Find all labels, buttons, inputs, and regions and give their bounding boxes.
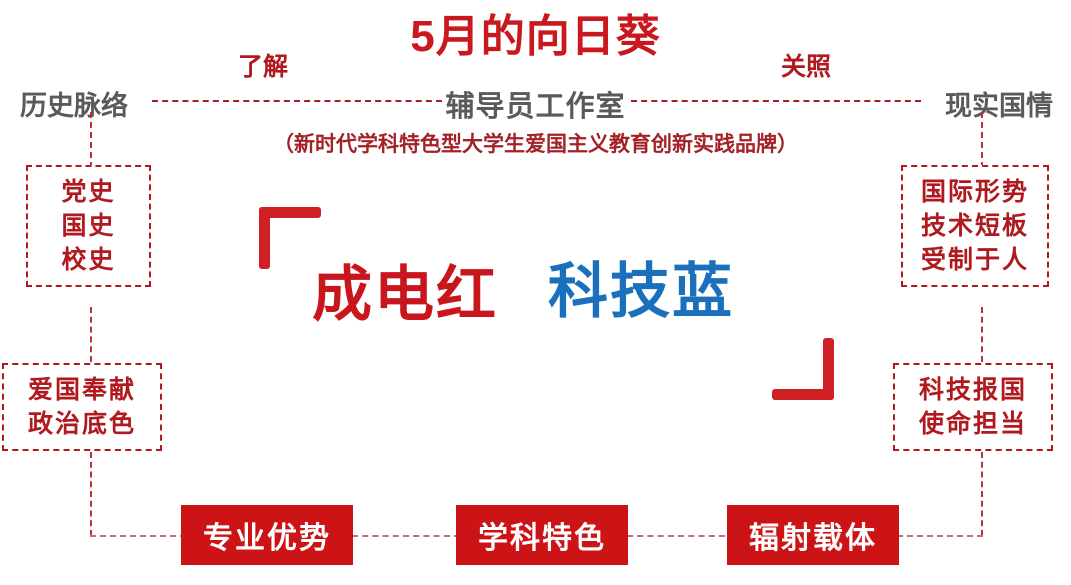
pill-major-advantage[interactable]: 专业优势 — [181, 505, 353, 565]
page-title: 5月的向日葵 — [0, 14, 1071, 60]
connector-right-vertical-2 — [981, 307, 983, 362]
pill-radiation-carrier[interactable]: 辐射载体 — [727, 505, 899, 565]
box-row: 技术短板 — [917, 209, 1033, 243]
box-row: 国史 — [42, 209, 135, 243]
center-slogan-red: 成电红 — [312, 265, 498, 325]
box-row: 党史 — [42, 175, 135, 209]
anchor-label-right: 现实国情 — [945, 84, 1053, 123]
connector-pill-link-1 — [352, 535, 460, 537]
box-row: 政治底色 — [18, 407, 146, 441]
corner-bracket-bottom-right-icon — [772, 338, 834, 400]
connector-top-right — [631, 100, 921, 102]
diagram-canvas: 5月的向日葵 辅导员工作室 （新时代学科特色型大学生爱国主义教育创新实践品牌） … — [0, 0, 1071, 585]
verb-label-right: 关照 — [781, 47, 831, 83]
box-row: 受制于人 — [917, 243, 1033, 277]
connector-top-left — [152, 100, 442, 102]
corner-bracket-top-left-icon — [259, 207, 321, 269]
box-row: 科技报国 — [909, 373, 1037, 407]
page-subtitle: 辅导员工作室 — [0, 83, 1071, 125]
verb-label-left: 了解 — [238, 47, 288, 83]
connector-pill-link-2 — [627, 535, 725, 537]
brand-descriptor: （新时代学科特色型大学生爱国主义教育创新实践品牌） — [0, 128, 1071, 158]
box-tech-mission: 科技报国 使命担当 — [893, 363, 1053, 451]
box-patriotic-values: 爱国奉献 政治底色 — [2, 363, 162, 451]
pill-discipline-feature[interactable]: 学科特色 — [456, 505, 628, 565]
connector-right-vertical-3 — [981, 452, 983, 536]
box-row: 国际形势 — [917, 175, 1033, 209]
box-row: 爱国奉献 — [18, 373, 146, 407]
box-history-topics: 党史 国史 校史 — [26, 165, 151, 287]
box-row: 校史 — [42, 243, 135, 277]
center-slogan-blue: 科技蓝 — [548, 262, 734, 322]
anchor-label-left: 历史脉络 — [20, 84, 128, 123]
connector-elbow-right — [887, 535, 983, 537]
box-national-situation: 国际形势 技术短板 受制于人 — [901, 165, 1049, 287]
connector-left-vertical-2 — [90, 307, 92, 362]
box-row: 使命担当 — [909, 407, 1037, 441]
connector-elbow-left — [90, 535, 186, 537]
connector-left-vertical-3 — [90, 452, 92, 536]
